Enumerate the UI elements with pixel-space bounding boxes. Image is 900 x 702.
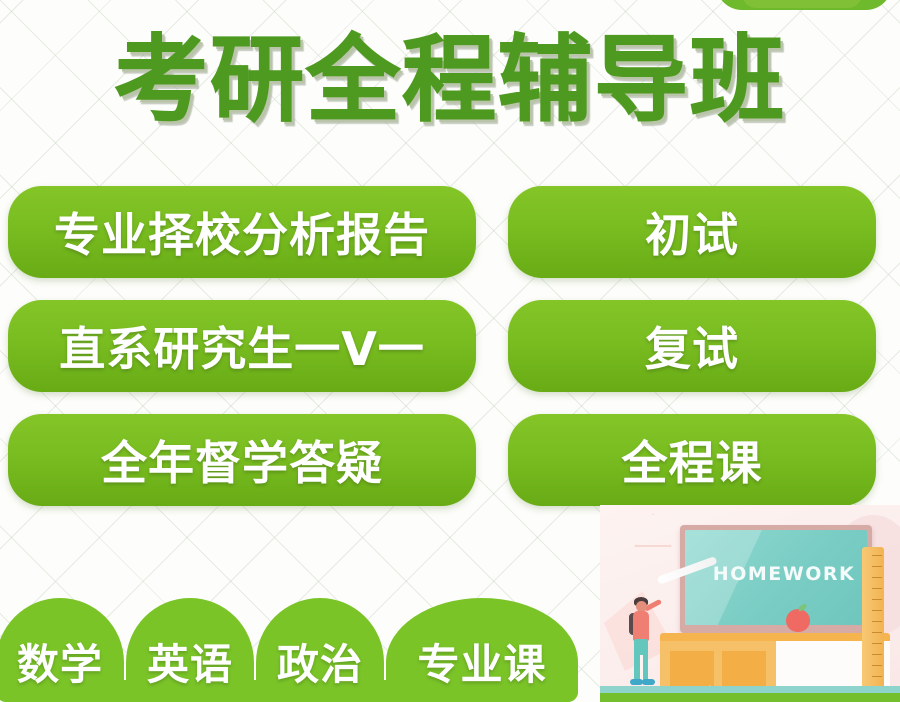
subject-bubble-politics[interactable]: 政治 xyxy=(256,598,384,702)
chalkboard: HOMEWORK xyxy=(685,530,867,625)
person-torso xyxy=(633,611,649,641)
subject-label: 专业课 xyxy=(417,644,546,702)
apple-icon xyxy=(786,609,810,632)
top-right-green-blob-accent xyxy=(742,0,862,8)
feature-pill-first-exam[interactable]: 初试 xyxy=(508,186,876,278)
subject-label: 英语 xyxy=(147,644,233,702)
feature-label: 全年督学答疑 xyxy=(101,427,383,493)
person-leg-gap xyxy=(640,655,643,681)
feature-pill-second-exam[interactable]: 复试 xyxy=(508,300,876,392)
ruler-ticks xyxy=(872,555,882,693)
subject-bubble-major-course[interactable]: 专业课 xyxy=(386,598,578,702)
feature-pill-full-course[interactable]: 全程课 xyxy=(508,414,876,506)
feature-label: 直系研究生一V一 xyxy=(59,313,425,379)
feature-pill-year-round-qa[interactable]: 全年督学答疑 xyxy=(8,414,476,506)
feature-label: 复试 xyxy=(645,313,739,379)
person-shoe-right xyxy=(642,679,655,685)
chalkboard-text: HOMEWORK xyxy=(713,563,855,585)
classroom-illustration: HOMEWORK xyxy=(600,505,900,702)
illustration-floor-green-strip xyxy=(600,693,900,702)
subject-label: 数学 xyxy=(17,644,103,702)
feature-label: 专业择校分析报告 xyxy=(54,199,430,265)
feature-label: 全程课 xyxy=(622,427,763,493)
feature-label: 初试 xyxy=(645,199,739,265)
promo-poster: 考研全程辅导班 专业择校分析报告 直系研究生一V一 全年督学答疑 初试 复试 全… xyxy=(0,0,900,702)
chalkboard-frame: HOMEWORK xyxy=(680,525,872,633)
subject-bubble-english[interactable]: 英语 xyxy=(126,598,254,702)
feature-pill-major-school-report[interactable]: 专业择校分析报告 xyxy=(8,186,476,278)
subject-bubble-math[interactable]: 数学 xyxy=(0,598,124,702)
feature-pill-one-on-one-grad-student[interactable]: 直系研究生一V一 xyxy=(8,300,476,392)
title-area: 考研全程辅导班 xyxy=(0,16,900,146)
decor-triangle-icon xyxy=(634,513,672,547)
subject-label: 政治 xyxy=(277,644,363,702)
poster-title: 考研全程辅导班 xyxy=(114,34,786,128)
